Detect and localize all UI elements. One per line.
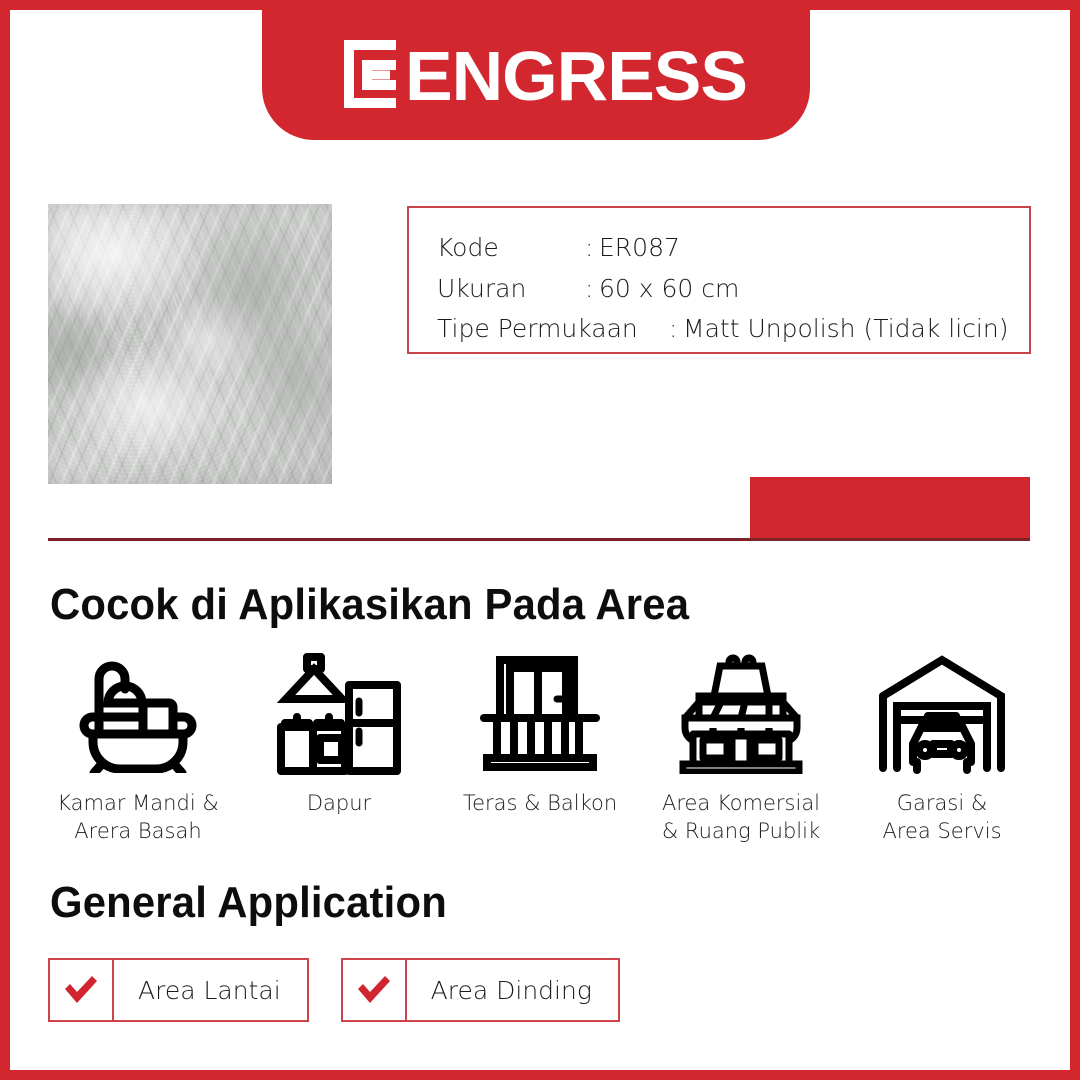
- spec-separator: :: [669, 309, 683, 350]
- option-label: Area Lantai: [114, 960, 307, 1020]
- spec-row-tipe-permukaan: Tipe Permukaan : Matt Unpolish (Tidak li…: [437, 309, 1029, 350]
- spec-label: Ukuran: [437, 269, 585, 310]
- areas-heading: Cocok di Aplikasikan Pada Area: [50, 580, 689, 630]
- area-label: Teras & Balkon: [463, 790, 617, 818]
- option-label: Area Dinding: [407, 960, 618, 1020]
- check-icon: [343, 960, 407, 1020]
- option-area-dinding[interactable]: Area Dinding: [341, 958, 620, 1022]
- spec-label: Tipe Permukaan: [437, 309, 669, 350]
- brand-name: ENGRESS: [405, 41, 747, 111]
- areas-icon-row: Kamar Mandi & Arera Basah: [40, 648, 1040, 845]
- spec-row-ukuran: Ukuran : 60 x 60 cm: [437, 269, 1029, 310]
- spec-value: ER087: [599, 228, 680, 269]
- area-item-commercial: Area Komersial & Ruang Publik: [643, 648, 839, 845]
- area-label: Kamar Mandi & Arera Basah: [57, 790, 218, 845]
- spec-separator: :: [585, 269, 599, 310]
- red-accent-block: [750, 477, 1030, 538]
- area-label: Garasi & Area Servis: [882, 790, 1001, 845]
- engress-monogram-icon: [332, 36, 404, 117]
- brand-logo: ENGRESS: [332, 36, 740, 117]
- bathtub-shower-icon: [75, 648, 201, 780]
- spec-row-kode: Kode : ER087: [437, 228, 1029, 269]
- tile-swatch-image: [48, 204, 332, 484]
- option-area-lantai[interactable]: Area Lantai: [48, 958, 309, 1022]
- spec-value: Matt Unpolish (Tidak licin): [683, 309, 1008, 350]
- section-divider: [48, 538, 1030, 541]
- spec-value: 60 x 60 cm: [599, 269, 739, 310]
- area-item-garage: Garasi & Area Servis: [844, 648, 1040, 845]
- spec-separator: :: [585, 228, 599, 269]
- general-application-options: Area Lantai Area Dinding: [48, 958, 620, 1022]
- card-canvas: ENGRESS Kode : ER087 Ukuran : 60 x 60 cm…: [10, 10, 1070, 1070]
- area-label: Dapur: [307, 790, 371, 818]
- spec-label: Kode: [437, 228, 585, 269]
- header-banner: ENGRESS: [262, 8, 810, 140]
- area-item-bathroom: Kamar Mandi & Arera Basah: [40, 648, 236, 845]
- general-application-heading: General Application: [50, 878, 447, 928]
- area-item-balcony: Teras & Balkon: [442, 648, 638, 818]
- product-spec-card: ENGRESS Kode : ER087 Ukuran : 60 x 60 cm…: [0, 0, 1080, 1080]
- garage-car-icon: [877, 648, 1007, 780]
- kitchen-icon: [276, 648, 402, 780]
- balcony-icon: [479, 648, 601, 780]
- storefront-icon: [675, 648, 807, 780]
- specification-box: Kode : ER087 Ukuran : 60 x 60 cm Tipe Pe…: [407, 206, 1031, 354]
- area-label: Area Komersial & Ruang Publik: [662, 790, 820, 845]
- check-icon: [50, 960, 114, 1020]
- area-item-kitchen: Dapur: [241, 648, 437, 818]
